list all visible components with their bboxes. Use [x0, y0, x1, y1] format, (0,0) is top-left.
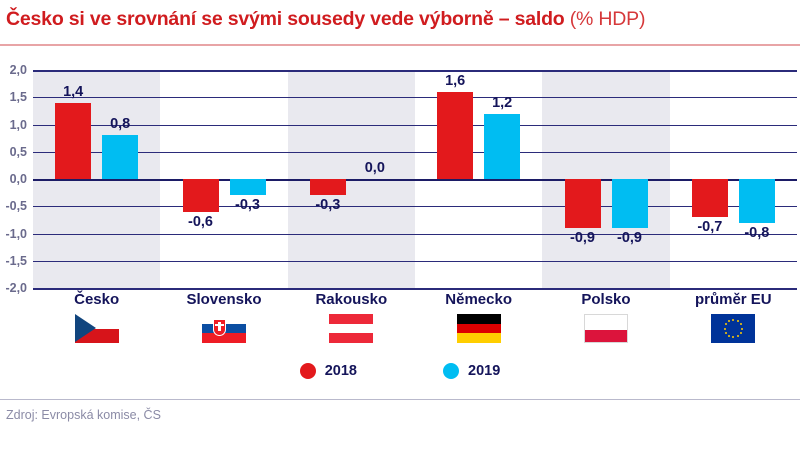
bar-value-label: -0,6: [171, 214, 231, 230]
gridline: [33, 261, 797, 262]
title-main: Česko si ve srovnání se svými sousedy ve…: [6, 8, 565, 30]
gridline: [33, 97, 797, 98]
bar-2019-Česko[interactable]: [102, 135, 138, 179]
chart-legend: 20182019: [0, 358, 800, 384]
category-label: Německo: [415, 290, 542, 310]
x-axis-category-Německo: Německo: [415, 290, 542, 343]
category-label: Polsko: [542, 290, 669, 310]
flag-at-icon: [329, 314, 373, 343]
x-axis-category-Polsko: Polsko: [542, 290, 669, 343]
bar-2018-Polsko[interactable]: [565, 179, 601, 228]
bar-2019-Slovensko[interactable]: [230, 179, 266, 195]
title-divider: [0, 44, 800, 46]
y-axis-tick-label: 0,0: [0, 173, 27, 185]
category-label: Rakousko: [288, 290, 415, 310]
bar-value-label: -0,8: [727, 225, 787, 241]
bar-value-label: 0,0: [345, 160, 405, 176]
gridline: [33, 152, 797, 153]
flag-cz-icon: [75, 314, 119, 343]
title-bar: Česko si ve srovnání se svými sousedy ve…: [0, 0, 800, 48]
bar-2019-Německo[interactable]: [484, 114, 520, 179]
legend-item-2018[interactable]: 2018: [300, 363, 357, 379]
flag-de-icon: [457, 314, 501, 343]
bar-value-label: 0,8: [90, 116, 150, 132]
y-axis-tick-label: 1,5: [0, 91, 27, 103]
x-axis-category-Slovensko: Slovensko: [160, 290, 287, 343]
page-title: Česko si ve srovnání se svými sousedy ve…: [6, 6, 796, 32]
y-axis-tick-label: -1,0: [0, 228, 27, 240]
source-note: Zdroj: Evropská komise, ČS: [6, 408, 161, 422]
legend-label: 2019: [468, 363, 500, 379]
category-label: průměr EU: [670, 290, 797, 310]
flag-sk-icon: [202, 314, 246, 343]
flag-pl-icon: [584, 314, 628, 343]
y-axis-tick-label: -0,5: [0, 200, 27, 212]
x-axis-category-Česko: Česko: [33, 290, 160, 343]
legend-color-swatch: [300, 363, 316, 379]
legend-color-swatch: [443, 363, 459, 379]
gridline: [33, 206, 797, 207]
y-axis-tick-label: 1,0: [0, 119, 27, 131]
bar-2018-Česko[interactable]: [55, 103, 91, 179]
category-label: Slovensko: [160, 290, 287, 310]
gridline: [33, 70, 797, 72]
y-axis-tick-label: 2,0: [0, 64, 27, 76]
flag-wrapper: [415, 314, 542, 343]
bar-value-label: -0,9: [600, 230, 660, 246]
legend-label: 2018: [325, 363, 357, 379]
bar-value-label: 1,6: [425, 73, 485, 89]
bar-2018-průměr EU[interactable]: [692, 179, 728, 217]
y-axis-tick-label: 0,5: [0, 146, 27, 158]
flag-wrapper: [288, 314, 415, 343]
y-axis-tick-label: -2,0: [0, 282, 27, 294]
y-axis-tick-label: -1,5: [0, 255, 27, 267]
title-suffix: (% HDP): [565, 8, 646, 30]
flag-wrapper: [670, 314, 797, 343]
bar-2018-Rakousko[interactable]: [310, 179, 346, 195]
x-axis-categories: ČeskoSlovenskoRakouskoNěmeckoPolskoprůmě…: [33, 290, 797, 352]
x-axis-category-průměr EU: průměr EU: [670, 290, 797, 343]
flag-wrapper: [542, 314, 669, 343]
bar-2019-Polsko[interactable]: [612, 179, 648, 228]
bar-value-label: 1,2: [472, 95, 532, 111]
flag-wrapper: [33, 314, 160, 343]
legend-item-2019[interactable]: 2019: [443, 363, 500, 379]
bar-2018-Slovensko[interactable]: [183, 179, 219, 212]
flag-wrapper: [160, 314, 287, 343]
bar-2019-průměr EU[interactable]: [739, 179, 775, 223]
x-axis-category-Rakousko: Rakousko: [288, 290, 415, 343]
bar-value-label: -0,3: [298, 197, 358, 213]
bar-2018-Německo[interactable]: [437, 92, 473, 179]
category-label: Česko: [33, 290, 160, 310]
footer-divider: [0, 399, 800, 400]
zero-gridline: [33, 179, 797, 181]
bar-value-label: -0,3: [218, 197, 278, 213]
chart-plot-area: 1,40,8-0,6-0,3-0,30,01,61,2-0,9-0,9-0,7-…: [33, 70, 797, 288]
flag-eu-icon: [711, 314, 755, 343]
bar-value-label: 1,4: [43, 84, 103, 100]
